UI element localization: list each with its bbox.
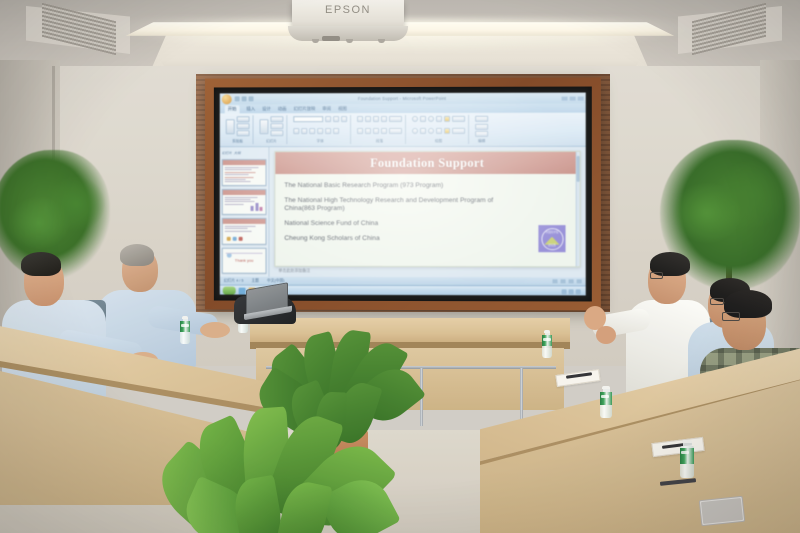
slide-thumbnail-pane[interactable]: 幻灯片 大纲 bbox=[220, 147, 270, 277]
attendee-left-far-hand bbox=[200, 322, 230, 338]
close-icon[interactable] bbox=[578, 96, 584, 100]
university-seal-logo: 中国科学院 研究所 bbox=[538, 225, 565, 252]
window-controls[interactable] bbox=[562, 96, 584, 100]
align-left-icon[interactable] bbox=[357, 128, 363, 134]
justify-icon[interactable] bbox=[381, 128, 387, 134]
shrink-font-icon[interactable] bbox=[341, 116, 347, 122]
window-title: Foundation Support - Microsoft PowerPoin… bbox=[220, 96, 586, 102]
phone-screen[interactable] bbox=[701, 498, 743, 524]
projected-powerpoint-window[interactable]: Foundation Support - Microsoft PowerPoin… bbox=[220, 93, 586, 296]
tree-right-tuft-b bbox=[714, 160, 788, 230]
reset-icon[interactable] bbox=[270, 123, 283, 129]
status-slide-indicator: 幻灯片 4 / 5 bbox=[224, 278, 244, 283]
slide-thumbnail-3[interactable] bbox=[222, 218, 267, 244]
ribbon-tab-view[interactable]: 视图 bbox=[338, 106, 347, 112]
slide-body[interactable]: The National Basic Research Program (973… bbox=[275, 174, 579, 266]
tree-left-tuft-b bbox=[46, 176, 106, 232]
projector-brand-label: EPSON bbox=[292, 4, 404, 16]
slide-bullet-4: Cheung Kong Scholars of China bbox=[284, 235, 524, 244]
taskbar-ie-icon[interactable] bbox=[239, 287, 246, 294]
ribbon-tab-design[interactable]: 设计 bbox=[262, 106, 271, 112]
minimize-icon[interactable] bbox=[562, 96, 568, 100]
select-icon[interactable] bbox=[475, 131, 488, 137]
ribbon-group-clipboard-label: 剪贴板 bbox=[226, 139, 250, 144]
slide-scrollbar[interactable] bbox=[576, 152, 580, 266]
slide-bullet-1: The National Basic Research Program (973… bbox=[284, 182, 524, 190]
ribbon-tab-home[interactable]: 开始 bbox=[225, 105, 240, 113]
shape-styles-icon[interactable] bbox=[444, 116, 450, 122]
shape-arrow-icon[interactable] bbox=[436, 116, 442, 122]
bottle-body bbox=[600, 392, 612, 418]
tray-network-icon[interactable] bbox=[562, 289, 567, 294]
numbering-icon[interactable] bbox=[365, 116, 371, 122]
shape-fill-icon[interactable] bbox=[452, 116, 465, 122]
tab-outline[interactable]: 大纲 bbox=[234, 150, 241, 155]
view-controls[interactable] bbox=[552, 279, 581, 283]
projection-screen-bezel: Foundation Support - Microsoft PowerPoin… bbox=[214, 87, 592, 302]
thumbnail-content bbox=[223, 165, 266, 184]
strikethrough-icon[interactable] bbox=[325, 128, 331, 134]
ribbon-group-editing-label: 编辑 bbox=[475, 139, 488, 144]
zoom-slider[interactable] bbox=[577, 279, 582, 283]
bottle-body bbox=[542, 336, 552, 358]
attendee-right-mid-glasses bbox=[710, 298, 724, 305]
conference-room-photo: EPSON bbox=[0, 0, 800, 533]
potted-plant-foreground bbox=[170, 392, 400, 533]
shape-rect2-icon[interactable] bbox=[420, 127, 426, 133]
bottle-label bbox=[180, 321, 190, 332]
start-button-icon[interactable] bbox=[223, 287, 236, 295]
shape-circle2-icon[interactable] bbox=[428, 127, 434, 133]
convert-smartart-icon[interactable] bbox=[389, 128, 402, 134]
water-bottle-right-b bbox=[600, 386, 612, 418]
table-leg-far-c bbox=[520, 368, 523, 426]
ribbon-group-drawing-label: 绘图 bbox=[412, 139, 465, 144]
attendee-right-near-glasses bbox=[722, 312, 740, 321]
status-theme: 主题 bbox=[251, 278, 259, 283]
attendee-left-near-hair bbox=[21, 252, 61, 276]
shape-oval2-icon[interactable] bbox=[412, 127, 418, 133]
slide-title-bar[interactable]: Foundation Support bbox=[275, 152, 579, 174]
tab-slides[interactable]: 幻灯片 bbox=[222, 150, 232, 155]
thumbnail-pane-tabs[interactable]: 幻灯片 大纲 bbox=[222, 150, 267, 155]
bottle-label bbox=[680, 448, 694, 464]
water-bottle-right-c bbox=[680, 440, 694, 478]
thumbnail-content bbox=[223, 224, 266, 234]
slide-editing-stage[interactable]: Foundation Support The National Basic Re… bbox=[269, 147, 585, 278]
find-icon[interactable] bbox=[475, 116, 488, 122]
layout-icon[interactable] bbox=[270, 116, 283, 122]
maximize-icon[interactable] bbox=[570, 96, 576, 100]
ribbon-group-paragraph-label: 段落 bbox=[357, 139, 402, 144]
ribbon-group-font[interactable]: 字体 bbox=[290, 115, 351, 144]
normal-view-icon[interactable] bbox=[552, 279, 557, 283]
italic-icon[interactable] bbox=[301, 128, 307, 134]
system-tray[interactable] bbox=[562, 289, 583, 294]
ribbon-group-editing[interactable]: 编辑 bbox=[472, 115, 491, 144]
mobile-phone[interactable] bbox=[699, 496, 745, 526]
powerpoint-body: 幻灯片 大纲 bbox=[220, 147, 586, 278]
projector-lens-icon bbox=[322, 36, 340, 41]
shadow-icon[interactable] bbox=[317, 128, 323, 134]
cut-icon[interactable] bbox=[237, 116, 250, 122]
thumbnail-figure-icons bbox=[227, 236, 243, 240]
ribbon-group-clipboard[interactable]: 剪贴板 bbox=[223, 115, 254, 144]
bottle-body bbox=[680, 446, 694, 478]
logo-top-text: 中国科学院 bbox=[542, 230, 562, 234]
ribbon-tab-review[interactable]: 审阅 bbox=[322, 106, 331, 112]
attendee-right-far-glasses bbox=[650, 272, 663, 279]
shape-rect-icon[interactable] bbox=[420, 116, 426, 122]
ribbon-group-slides-label: 幻灯片 bbox=[260, 139, 284, 144]
grow-font-icon[interactable] bbox=[333, 116, 339, 122]
bottle-label bbox=[600, 392, 612, 405]
line-spacing-icon[interactable] bbox=[389, 116, 402, 122]
font-family-select[interactable] bbox=[293, 116, 323, 122]
slide-bullet-2: The National High Technology Research an… bbox=[284, 197, 524, 214]
align-center-icon[interactable] bbox=[365, 128, 371, 134]
thumbnail-rule bbox=[226, 252, 263, 253]
font-size-select[interactable] bbox=[325, 116, 331, 122]
new-slide-icon[interactable] bbox=[260, 119, 269, 134]
ribbon-group-font-label: 字体 bbox=[293, 139, 347, 144]
ribbon[interactable]: 剪贴板 幻灯片 bbox=[220, 113, 586, 148]
tray-ime-icon[interactable] bbox=[576, 289, 581, 294]
format-painter-icon[interactable] bbox=[237, 130, 250, 136]
notes-pane[interactable]: 单击此处添加备注 bbox=[274, 267, 580, 276]
ribbon-tab-insert[interactable]: 插入 bbox=[246, 106, 255, 112]
attendee-right-far-hand-2 bbox=[596, 326, 616, 344]
underline-icon[interactable] bbox=[309, 128, 315, 134]
shape-oval-icon[interactable] bbox=[412, 116, 418, 122]
slide-bullet-3: National Science Fund of China bbox=[284, 220, 524, 229]
projector-body bbox=[288, 26, 408, 41]
shape-line-icon[interactable] bbox=[436, 127, 442, 133]
copy-icon[interactable] bbox=[237, 123, 250, 129]
font-color-icon[interactable] bbox=[333, 128, 339, 134]
paste-icon[interactable] bbox=[226, 119, 235, 134]
delete-slide-icon[interactable] bbox=[270, 130, 283, 136]
logo-circle: 中国科学院 研究所 bbox=[541, 228, 563, 250]
quick-styles-icon[interactable] bbox=[444, 127, 450, 133]
tray-volume-icon[interactable] bbox=[569, 289, 574, 294]
increase-indent-icon[interactable] bbox=[381, 116, 387, 122]
replace-icon[interactable] bbox=[475, 124, 488, 130]
projection-screen-frame: Foundation Support - Microsoft PowerPoin… bbox=[205, 77, 601, 310]
shape-circle-icon[interactable] bbox=[428, 116, 434, 122]
attendee-left-far-hair bbox=[120, 244, 154, 266]
ribbon-group-slides[interactable]: 幻灯片 bbox=[257, 115, 288, 144]
bullets-icon[interactable] bbox=[357, 116, 363, 122]
shape-outline-icon[interactable] bbox=[452, 127, 465, 133]
water-bottle-left-a bbox=[180, 316, 190, 344]
sorter-view-icon[interactable] bbox=[561, 279, 566, 283]
ribbon-tab-animations[interactable]: 动画 bbox=[278, 106, 287, 112]
slide-thumbnail-2[interactable] bbox=[222, 189, 267, 215]
current-slide[interactable]: Foundation Support The National Basic Re… bbox=[274, 151, 580, 267]
powerpoint-title-bar: Foundation Support - Microsoft PowerPoin… bbox=[220, 93, 586, 105]
slide-title: Foundation Support bbox=[370, 155, 484, 170]
ribbon-group-drawing[interactable]: 绘图 bbox=[409, 115, 469, 144]
align-right-icon[interactable] bbox=[373, 128, 379, 134]
ribbon-group-paragraph[interactable]: 段落 bbox=[354, 115, 406, 144]
water-bottle-right-a bbox=[542, 330, 552, 358]
thumbnail-figure bbox=[251, 203, 263, 211]
bottle-body bbox=[180, 322, 190, 344]
bold-icon[interactable] bbox=[293, 128, 299, 134]
slide-thumbnail-1[interactable] bbox=[222, 159, 267, 185]
slideshow-view-icon[interactable] bbox=[569, 279, 574, 283]
ribbon-tab-slideshow[interactable]: 幻灯片放映 bbox=[293, 106, 315, 112]
bottle-label bbox=[542, 335, 552, 346]
logo-bottom-text: 研究所 bbox=[542, 243, 562, 247]
decrease-indent-icon[interactable] bbox=[373, 116, 379, 122]
slide-thumbnail-4[interactable]: Thank you bbox=[222, 247, 267, 273]
